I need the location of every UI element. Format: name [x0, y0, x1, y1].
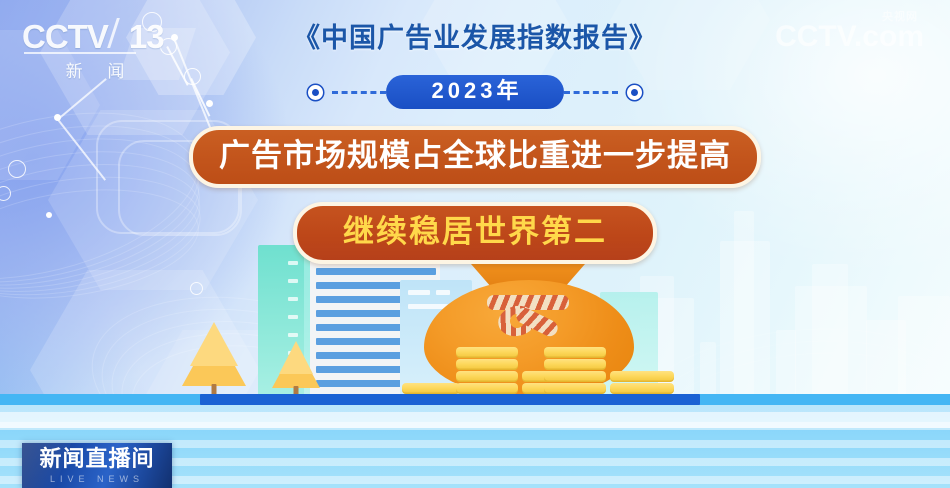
coin — [610, 371, 674, 382]
lower-third-title: 新闻直播间 — [22, 448, 172, 470]
coin — [610, 383, 674, 394]
lower-third-banner: 新闻直播间 LIVE NEWS — [22, 443, 172, 488]
dashed-line-right — [564, 91, 618, 94]
coin — [456, 383, 518, 394]
ground-bar-pale — [0, 412, 950, 428]
headline-primary: 广告市场规模占全球比重进一步提高 — [189, 126, 761, 188]
headline-secondary: 继续稳居世界第二 — [293, 202, 657, 264]
coin — [456, 347, 518, 358]
coin — [544, 371, 606, 382]
lower-third-subtitle: LIVE NEWS — [22, 475, 172, 484]
coin — [402, 383, 460, 394]
year-badge: 2023年 — [386, 75, 565, 109]
coin — [544, 383, 606, 394]
headline-group: 广告市场规模占全球比重进一步提高 继续稳居世界第二 — [0, 126, 950, 264]
dot-marker-right-icon — [627, 85, 642, 100]
coin — [544, 347, 606, 358]
dashed-line-left — [332, 91, 386, 94]
coin — [544, 359, 606, 370]
coin — [456, 359, 518, 370]
year-badge-row: 2023年 — [0, 74, 950, 110]
ground-bar-dark — [200, 394, 700, 405]
coin — [456, 371, 518, 382]
dot-marker-left-icon — [308, 85, 323, 100]
report-title: 《中国广告业发展指数报告》 — [0, 16, 950, 55]
broadcast-frame: CCTV 13 新 闻 央视网 CCTV.com 《中国广告业发展指数报告》 2… — [0, 0, 950, 488]
